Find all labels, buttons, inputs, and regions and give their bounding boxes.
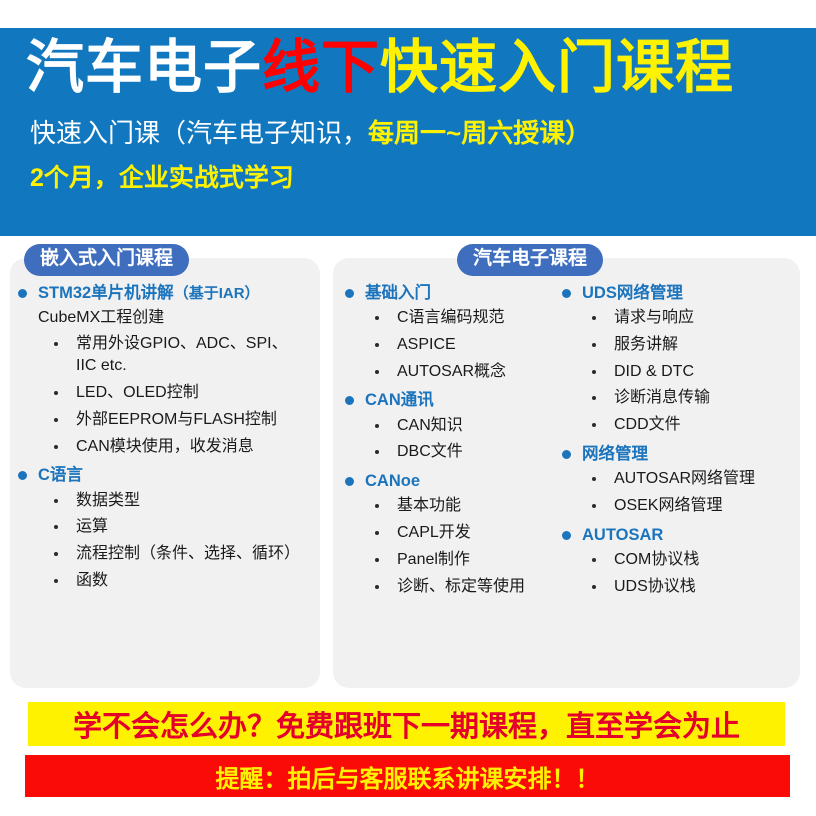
list-item-label: AUTOSAR概念 xyxy=(397,361,506,384)
list-item: UDS协议栈 xyxy=(562,576,792,599)
section-heading-label: UDS网络管理 xyxy=(582,282,683,304)
list-item-label: DBC文件 xyxy=(397,441,463,464)
section-heading-stm32: STM32单片机讲解（基于IAR） xyxy=(18,282,308,304)
list-item: 函数 xyxy=(18,570,308,593)
automotive-course-list-column-1: 基础入门 C语言编码规范 ASPICE AUTOSAR概念 CAN通讯 CAN知… xyxy=(345,282,560,602)
bullet-dot-icon xyxy=(345,396,354,405)
poster-root: 汽车电子线下快速入门课程 快速入门课（汽车电子知识，每周一~周六授课） 2个月，… xyxy=(0,0,816,816)
automotive-course-list-column-2: UDS网络管理 请求与响应 服务讲解 DID & DTC 诊断消息传输 CDD文… xyxy=(562,282,792,602)
bullet-small-icon xyxy=(375,558,379,562)
bullet-small-icon xyxy=(592,504,596,508)
list-item-label: DID & DTC xyxy=(614,361,694,384)
section-heading-can: CAN通讯 xyxy=(345,389,560,411)
list-item-label: 请求与响应 xyxy=(614,307,694,330)
list-item-label: CAPL开发 xyxy=(397,522,471,545)
list-item: CAPL开发 xyxy=(345,522,560,545)
bullet-small-icon xyxy=(375,504,379,508)
list-item-label: 运算 xyxy=(76,516,108,539)
bullet-small-icon xyxy=(592,585,596,589)
bullet-dot-icon xyxy=(345,477,354,486)
bullet-small-icon xyxy=(375,370,379,374)
title-segment-red: 线下 xyxy=(262,35,380,100)
bullet-small-icon xyxy=(375,343,379,347)
bullet-small-icon xyxy=(592,423,596,427)
list-item-label: 服务讲解 xyxy=(614,334,678,357)
guarantee-banner: 学不会怎么办？免费跟班下一期课程，直至学会为止 xyxy=(28,702,785,746)
list-item-label: LED、OLED控制 xyxy=(76,382,199,405)
list-item: CDD文件 xyxy=(562,414,792,437)
list-item-label: OSEK网络管理 xyxy=(614,495,722,518)
bullet-small-icon xyxy=(54,391,58,395)
list-item-label: CAN模块使用，收发消息 xyxy=(76,436,254,459)
subtitle-highlight-text: 每周一~周六授课） xyxy=(368,118,591,148)
list-item: 诊断、标定等使用 xyxy=(345,576,560,599)
list-item: Panel制作 xyxy=(345,549,560,572)
list-item: 服务讲解 xyxy=(562,334,792,357)
list-item: 诊断消息传输 xyxy=(562,387,792,410)
section-heading-suffix: （基于IAR） xyxy=(174,285,260,302)
bullet-small-icon xyxy=(375,316,379,320)
list-item: 请求与响应 xyxy=(562,307,792,330)
bullet-small-icon xyxy=(54,552,58,556)
subtitle-line-2: 2个月，企业实战式学习 xyxy=(30,158,294,194)
list-item-label: CAN知识 xyxy=(397,415,463,438)
section-heading-label: C语言 xyxy=(38,464,83,486)
page-title: 汽车电子线下快速入门课程 xyxy=(26,38,734,99)
section-heading-clang: C语言 xyxy=(18,464,308,486)
bullet-small-icon xyxy=(592,396,596,400)
bullet-small-icon xyxy=(375,450,379,454)
bullet-small-icon xyxy=(592,477,596,481)
bullet-small-icon xyxy=(375,531,379,535)
list-item: DBC文件 xyxy=(345,441,560,464)
section-heading-basics: 基础入门 xyxy=(345,282,560,304)
list-item: 基本功能 xyxy=(345,495,560,518)
section-heading-canoe: CANoe xyxy=(345,470,560,492)
embedded-course-list: STM32单片机讲解（基于IAR） CubeMX工程创建 常用外设GPIO、AD… xyxy=(18,282,308,596)
list-item-label: 常用外设GPIO、ADC、SPI、IIC etc. xyxy=(76,333,308,378)
section-plain-line: CubeMX工程创建 xyxy=(38,307,308,329)
bullet-small-icon xyxy=(54,579,58,583)
list-item-label: UDS协议栈 xyxy=(614,576,696,599)
title-segment-white: 汽车电子 xyxy=(26,35,262,100)
section-heading-label: 基础入门 xyxy=(365,282,431,304)
subtitle-line-1: 快速入门课（汽车电子知识，每周一~周六授课） xyxy=(30,118,591,149)
list-item-label: CDD文件 xyxy=(614,414,681,437)
guarantee-banner-text: 学不会怎么办？免费跟班下一期课程，直至学会为止 xyxy=(73,703,740,745)
bullet-small-icon xyxy=(54,342,58,346)
bullet-small-icon xyxy=(54,445,58,449)
list-item-label: 外部EEPROM与FLASH控制 xyxy=(76,409,277,432)
bullet-small-icon xyxy=(54,525,58,529)
title-segment-yellow: 快速入门课程 xyxy=(380,35,734,100)
list-item: 流程控制（条件、选择、循环） xyxy=(18,543,308,566)
section-heading-label: 网络管理 xyxy=(582,443,648,465)
bullet-small-icon xyxy=(375,424,379,428)
bullet-dot-icon xyxy=(18,289,27,298)
list-item: 数据类型 xyxy=(18,490,308,513)
bullet-small-icon xyxy=(592,370,596,374)
bullet-small-icon xyxy=(54,499,58,503)
bullet-dot-icon xyxy=(562,531,571,540)
list-item: AUTOSAR概念 xyxy=(345,361,560,384)
section-heading-label: CAN通讯 xyxy=(365,389,434,411)
list-item: LED、OLED控制 xyxy=(18,382,308,405)
list-item: OSEK网络管理 xyxy=(562,495,792,518)
list-item-label: 基本功能 xyxy=(397,495,461,518)
list-item: CAN模块使用，收发消息 xyxy=(18,436,308,459)
subtitle-plain-text: 快速入门课（汽车电子知识， xyxy=(30,118,368,148)
bullet-dot-icon xyxy=(562,289,571,298)
list-item: CAN知识 xyxy=(345,415,560,438)
panel-title-automotive: 汽车电子课程 xyxy=(457,244,603,276)
list-item-label: 诊断、标定等使用 xyxy=(397,576,525,599)
reminder-banner-text: 提醒：拍后与客服联系讲课安排！！ xyxy=(216,759,600,794)
list-item-label: C语言编码规范 xyxy=(397,307,505,330)
list-item: 常用外设GPIO、ADC、SPI、IIC etc. xyxy=(18,333,308,378)
bullet-small-icon xyxy=(375,585,379,589)
list-item-label: AUTOSAR网络管理 xyxy=(614,468,755,491)
reminder-banner: 提醒：拍后与客服联系讲课安排！！ xyxy=(25,755,790,797)
section-heading-label: AUTOSAR xyxy=(582,524,663,546)
section-heading-uds: UDS网络管理 xyxy=(562,282,792,304)
list-item: ASPICE xyxy=(345,334,560,357)
bullet-small-icon xyxy=(592,316,596,320)
panel-title-embedded: 嵌入式入门课程 xyxy=(24,244,189,276)
list-item: AUTOSAR网络管理 xyxy=(562,468,792,491)
list-item: DID & DTC xyxy=(562,361,792,384)
bullet-dot-icon xyxy=(18,471,27,480)
section-heading-autosar: AUTOSAR xyxy=(562,524,792,546)
section-heading-network: 网络管理 xyxy=(562,443,792,465)
section-heading-label: CANoe xyxy=(365,470,420,492)
list-item-label: 流程控制（条件、选择、循环） xyxy=(76,543,300,566)
bullet-small-icon xyxy=(592,343,596,347)
bullet-dot-icon xyxy=(345,289,354,298)
list-item-label: COM协议栈 xyxy=(614,549,699,572)
list-item-label: 诊断消息传输 xyxy=(614,387,710,410)
bullet-small-icon xyxy=(592,558,596,562)
section-heading-label: STM32单片机讲解（基于IAR） xyxy=(38,282,260,304)
hero-banner: 汽车电子线下快速入门课程 快速入门课（汽车电子知识，每周一~周六授课） 2个月，… xyxy=(0,28,816,236)
list-item-label: 函数 xyxy=(76,570,108,593)
list-item: 运算 xyxy=(18,516,308,539)
list-item: C语言编码规范 xyxy=(345,307,560,330)
list-item: 外部EEPROM与FLASH控制 xyxy=(18,409,308,432)
list-item-label: Panel制作 xyxy=(397,549,470,572)
bullet-dot-icon xyxy=(562,450,571,459)
list-item-label: 数据类型 xyxy=(76,490,140,513)
list-item-label: ASPICE xyxy=(397,334,456,357)
list-item: COM协议栈 xyxy=(562,549,792,572)
bullet-small-icon xyxy=(54,418,58,422)
